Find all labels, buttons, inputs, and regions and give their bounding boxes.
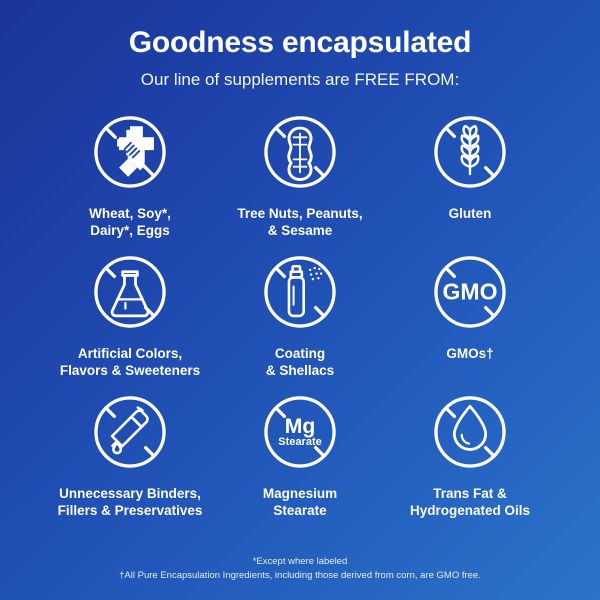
grid-item-label: Tree Nuts, Peanuts, & Sesame: [237, 205, 362, 240]
mg-badge-text: Mg: [285, 415, 316, 438]
footnote-dagger: †All Pure Encapsulation Ingredients, inc…: [0, 569, 600, 584]
poster-header: Goodness encapsulated Our line of supple…: [0, 26, 600, 90]
grid-item-unnecessary-binders: Unnecessary Binders, Fillers & Preservat…: [45, 386, 215, 526]
no-trans-fat-hydrogenated-oils-icon: [424, 386, 516, 478]
grid-item-trans-fat: Trans Fat & Hydrogenated Oils: [385, 386, 555, 526]
grid-item-label: Artificial Colors, Flavors & Sweeteners: [60, 345, 200, 380]
footnotes: *Except where labeled †All Pure Encapsul…: [0, 555, 600, 584]
grid-item-wheat-soy-dairy-eggs: Wheat, Soy*, Dairy*, Eggs: [45, 106, 215, 246]
grid-item-gmos: GMO GMOs†: [385, 246, 555, 386]
no-unnecessary-binders-fillers-preservatives-icon: [84, 386, 176, 478]
no-gluten-icon: [424, 106, 516, 198]
grid-item-label: Wheat, Soy*, Dairy*, Eggs: [89, 205, 171, 240]
page-subtitle: Our line of supplements are FREE FROM:: [0, 70, 600, 90]
page-title: Goodness encapsulated: [0, 26, 600, 61]
grid-item-tree-nuts-peanuts-sesame: Tree Nuts, Peanuts, & Sesame: [215, 106, 385, 246]
grid-item-label: Trans Fat & Hydrogenated Oils: [410, 485, 530, 520]
free-from-grid: Wheat, Soy*, Dairy*, Eggs: [45, 106, 555, 526]
no-tree-nuts-peanuts-sesame-icon: [254, 106, 346, 198]
grid-item-label: Unnecessary Binders, Fillers & Preservat…: [58, 485, 203, 520]
grid-item-label: GMOs†: [446, 345, 493, 362]
grid-item-gluten: Gluten: [385, 106, 555, 246]
footnote-asterisk: *Except where labeled: [0, 555, 600, 570]
gmo-badge-text: GMO: [443, 278, 498, 304]
grid-item-label: Coating & Shellacs: [266, 345, 334, 380]
no-artificial-colors-flavors-sweeteners-icon: [84, 246, 176, 338]
grid-item-label: Gluten: [449, 205, 492, 222]
no-wheat-soy-dairy-eggs-icon: [84, 106, 176, 198]
no-coating-shellacs-icon: [254, 246, 346, 338]
no-gmo-icon: GMO: [424, 246, 516, 338]
grid-item-label: Magnesium Stearate: [263, 485, 337, 520]
grid-item-artificial-colors: Artificial Colors, Flavors & Sweeteners: [45, 246, 215, 386]
grid-item-coating-shellacs: Coating & Shellacs: [215, 246, 385, 386]
grid-item-magnesium-stearate: Mg Stearate Magnesium Stearate: [215, 386, 385, 526]
no-magnesium-stearate-icon: Mg Stearate: [254, 386, 346, 478]
poster: Goodness encapsulated Our line of supple…: [0, 0, 600, 600]
